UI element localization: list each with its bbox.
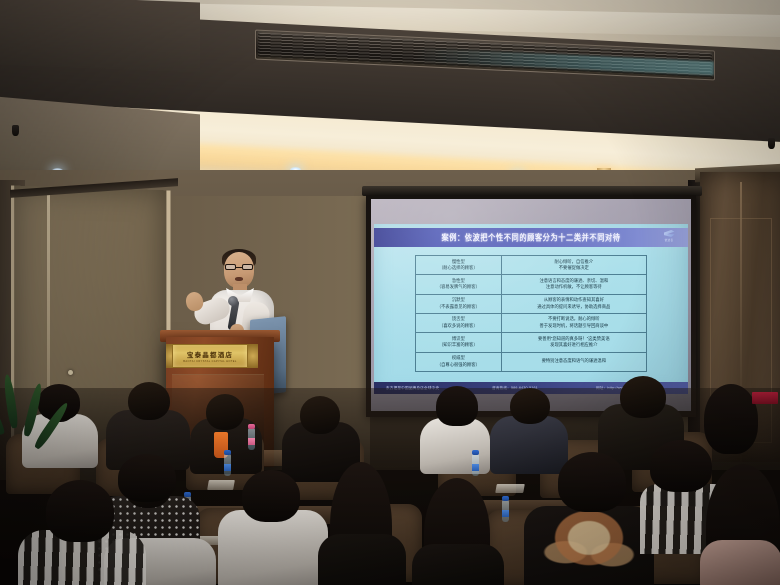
attendee-head — [206, 394, 244, 430]
eyeglasses-icon — [225, 264, 253, 270]
customer-type-cell: 博识型（知识丰富的顾客） — [416, 333, 502, 352]
advice-line: 发现其喜好进行相应推介 — [503, 342, 645, 349]
attendee-hair — [558, 452, 626, 512]
attendee-hair — [704, 384, 758, 454]
attendee-body — [318, 534, 406, 585]
handout-papers — [495, 484, 525, 493]
attendee-hair-bun — [118, 454, 176, 502]
customer-type-cell: 慢性型（耐心选择的顾客） — [416, 256, 502, 275]
attendee-head — [510, 388, 550, 424]
bottle-label — [472, 464, 479, 471]
attendee-body — [490, 416, 568, 474]
advice-line: 不要催促做决定 — [503, 265, 645, 272]
speaker-mouth — [235, 277, 243, 281]
customer-type-cell: 权威型（自尊心很强的顾客） — [416, 352, 502, 371]
attendee-head — [128, 382, 170, 420]
customer-type-desc: （不表露意见的顾客） — [417, 304, 500, 311]
advice-cell: 不要打断说话，耐心的倾听善于发现时机，将话题引导回商谈中 — [501, 313, 646, 332]
plant-leaf — [22, 383, 44, 438]
table-row: 饶舌型（喜欢多说的顾客）不要打断说话，耐心的倾听善于发现时机，将话题引导回商谈中 — [416, 313, 647, 332]
attendee-head — [300, 396, 340, 434]
slide-title-bar: 案例：依波把个性不同的顾客分为十二类并不同对待 — [374, 228, 688, 247]
bottle-cap — [502, 496, 509, 501]
fire-sprinkler-icon — [768, 138, 775, 149]
advice-line: 通过具体的提问来诱导，协助选择商品 — [503, 304, 645, 311]
bottle-cap — [224, 450, 231, 455]
audience-area — [0, 388, 780, 585]
slide-table-body: 慢性型（耐心选择的顾客）耐心倾听，自信推介不要催促做决定急性型（容易发脾气的顾客… — [416, 256, 647, 372]
microphone-head-icon — [228, 296, 238, 306]
bottle-label — [502, 510, 509, 517]
advice-cell: 要特别注意态度和语气的谦逊温和 — [501, 352, 646, 371]
customer-type-cell: 急性型（容易发脾气的顾客） — [416, 275, 502, 294]
projected-slide: 案例：依波把个性不同的顾客分为十二类并不同对待 依波表 慢性型（耐心选择的顾客）… — [374, 224, 688, 394]
table-row: 沉默型（不表露意见的顾客）从顾客的表情和动作查知其喜好通过具体的提问来诱导，协助… — [416, 294, 647, 313]
customer-type-cell: 饶舌型（喜欢多说的顾客） — [416, 313, 502, 332]
attendee-hair — [242, 470, 300, 522]
bottle-cap — [472, 450, 479, 455]
podium-hotel-sign: 宝泰晶都酒店 BAOTAI CRYSTAL CAPITAL HOTEL — [172, 344, 248, 368]
customer-type-desc: （知识丰富的顾客） — [417, 342, 500, 349]
advice-line: 要特别注意态度和语气的谦逊温和 — [503, 358, 645, 365]
potted-plant-icon — [0, 370, 62, 510]
brand-mark-icon — [664, 230, 675, 237]
table-row: 权威型（自尊心很强的顾客）要特别注意态度和语气的谦逊温和 — [416, 352, 647, 371]
attendee-body — [700, 540, 780, 585]
customer-type-cell: 沉默型（不表露意见的顾客） — [416, 294, 502, 313]
advice-line: 从顾客的表情和动作查知其喜好 — [503, 297, 645, 304]
partition-wall-knob[interactable] — [68, 370, 73, 375]
slide-content-table: 慢性型（耐心选择的顾客）耐心倾听，自信推介不要催促做决定急性型（容易发脾气的顾客… — [415, 255, 647, 372]
speaker-head — [224, 252, 254, 288]
table-row: 慢性型（耐心选择的顾客）耐心倾听，自信推介不要催促做决定 — [416, 256, 647, 275]
brand-logo-text: 依波表 — [656, 238, 682, 242]
podium-sign-english: BAOTAI CRYSTAL CAPITAL HOTEL — [183, 360, 236, 363]
customer-type-name: 权威型 — [417, 355, 500, 362]
slide-brand-logo: 依波表 — [656, 230, 682, 245]
customer-type-desc: （喜欢多说的顾客） — [417, 323, 500, 330]
table-row: 博识型（知识丰富的顾客）要善用“您知道的真多呀！”这类赞美语发现其喜好进行相应推… — [416, 333, 647, 352]
fire-sprinkler-icon — [12, 125, 19, 136]
conference-room-scene: 案例：依波把个性不同的顾客分为十二类并不同对待 依波表 慢性型（耐心选择的顾客）… — [0, 0, 780, 585]
attendee-body — [420, 418, 490, 474]
attendee-hair — [650, 440, 712, 492]
bottle-label — [248, 438, 255, 445]
customer-type-desc: （耐心选择的顾客） — [417, 265, 500, 272]
customer-type-desc: （容易发脾气的顾客） — [417, 284, 500, 291]
glasses-lens-right — [242, 264, 253, 270]
water-bottle-icon — [472, 454, 479, 476]
exit-sign-icon — [752, 392, 778, 404]
plant-leaf — [3, 374, 19, 429]
ceiling-dark-beam-left — [0, 0, 200, 72]
bottle-label — [224, 464, 231, 471]
podium-sign-chinese: 宝泰晶都酒店 — [187, 349, 233, 359]
water-bottle-icon — [502, 500, 509, 522]
advice-cell: 要善用“您知道的真多呀！”这类赞美语发现其喜好进行相应推介 — [501, 333, 646, 352]
table-row: 急性型（容易发脾气的顾客）注意语言和态度的谦逊、亲切、温和注意动作机敏，不让顾客… — [416, 275, 647, 294]
attendee-body-floral — [524, 506, 654, 585]
podium-ornament-right — [248, 344, 258, 368]
customer-type-desc: （自尊心很强的顾客） — [417, 362, 500, 369]
bottle-cap — [248, 424, 255, 429]
customer-type-name: 沉默型 — [417, 297, 500, 304]
water-bottle-icon — [248, 428, 255, 450]
handout-papers — [207, 480, 235, 490]
attendee-hair — [436, 386, 478, 426]
attendee-body — [412, 544, 504, 585]
slide-title: 案例：依波把个性不同的顾客分为十二类并不同对待 — [441, 232, 620, 244]
attendee-head — [620, 376, 666, 418]
advice-cell: 耐心倾听，自信推介不要催促做决定 — [501, 256, 646, 275]
water-bottle-icon — [224, 454, 231, 476]
advice-cell: 从顾客的表情和动作查知其喜好通过具体的提问来诱导，协助选择商品 — [501, 294, 646, 313]
advice-cell: 注意语言和态度的谦逊、亲切、温和注意动作机敏，不让顾客等待 — [501, 275, 646, 294]
advice-line: 注意动作机敏，不让顾客等待 — [503, 284, 645, 291]
glasses-lens-left — [225, 264, 236, 270]
advice-line: 善于发现时机，将话题引导回商谈中 — [503, 323, 645, 330]
